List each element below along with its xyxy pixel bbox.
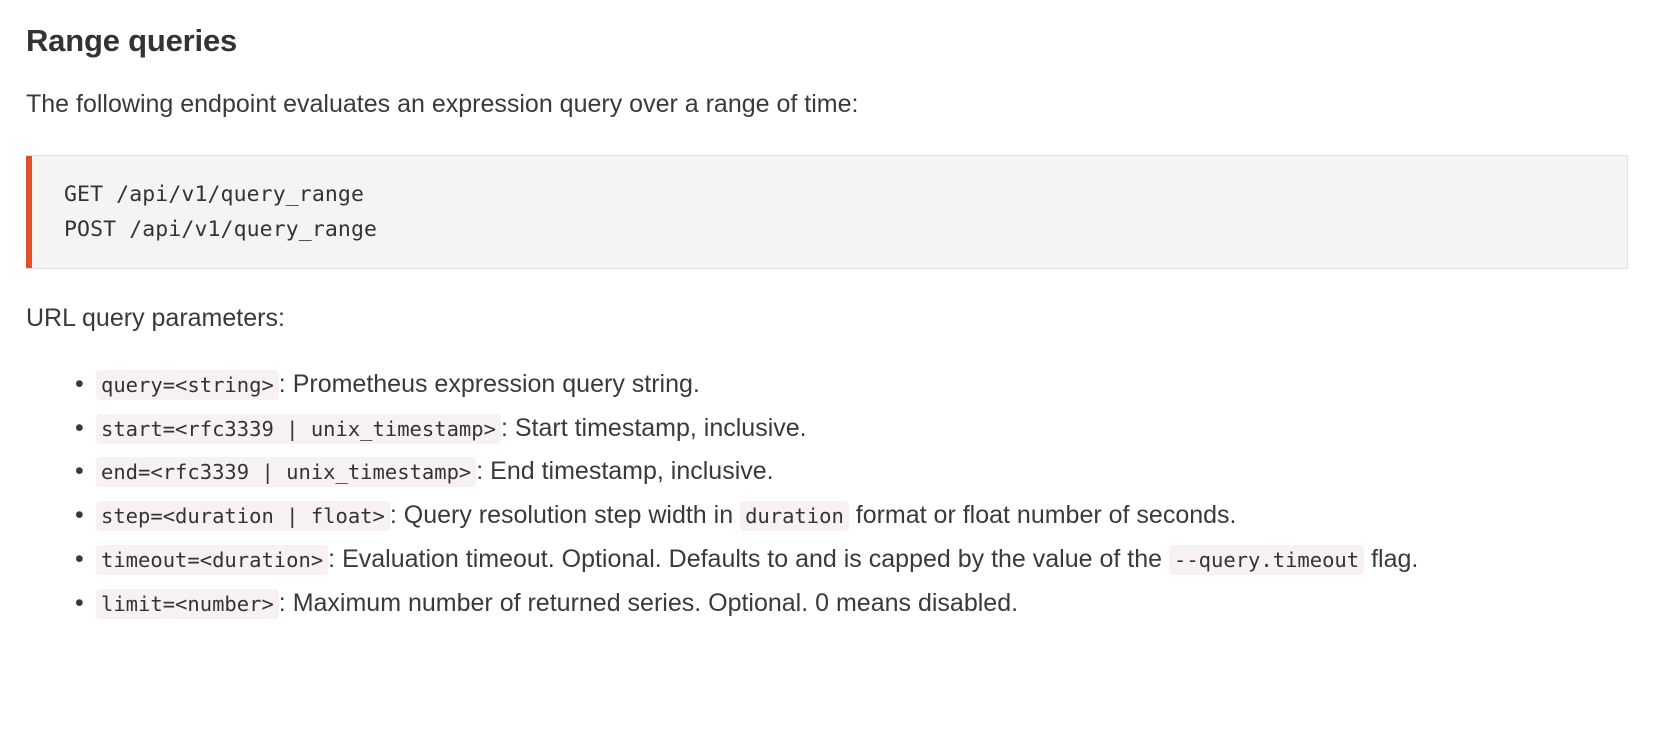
- list-item: • query=<string>: Prometheus expression …: [26, 364, 1628, 406]
- param-separator: :: [279, 370, 286, 398]
- list-item: • timeout=<duration>: Evaluation timeout…: [26, 539, 1628, 581]
- list-item: • step=<duration | float>: Query resolut…: [26, 495, 1628, 537]
- bullet-icon: •: [75, 495, 84, 537]
- param-code: query=<string>: [96, 370, 279, 400]
- bullet-icon: •: [75, 364, 84, 406]
- bullet-icon: •: [75, 539, 84, 581]
- param-description: Maximum number of returned series. Optio…: [286, 589, 1018, 617]
- param-code: end=<rfc3339 | unix_timestamp>: [96, 457, 476, 487]
- param-separator: :: [390, 501, 397, 529]
- param-description-tail: flag.: [1364, 545, 1418, 573]
- bullet-icon: •: [75, 408, 84, 450]
- param-description-tail: format or float number of seconds.: [849, 501, 1237, 529]
- list-item: • end=<rfc3339 | unix_timestamp>: End ti…: [26, 451, 1628, 493]
- param-description: End timestamp, inclusive.: [483, 457, 773, 485]
- code-line-get: GET /api/v1/query_range: [64, 178, 1607, 213]
- parameter-list: • query=<string>: Prometheus expression …: [26, 336, 1628, 625]
- intro-paragraph: The following endpoint evaluates an expr…: [26, 61, 1628, 122]
- param-code-inline-mid: --query.timeout: [1169, 545, 1364, 575]
- param-description: Start timestamp, inclusive.: [508, 414, 807, 442]
- code-line-post: POST /api/v1/query_range: [64, 213, 1607, 248]
- bullet-icon: •: [75, 583, 84, 625]
- page-title: Range queries: [26, 0, 1628, 61]
- param-description: Query resolution step width in: [397, 501, 740, 529]
- documentation-page: Range queries The following endpoint eva…: [0, 0, 1654, 742]
- param-separator: :: [501, 414, 508, 442]
- bullet-icon: •: [75, 451, 84, 493]
- param-separator: :: [279, 589, 286, 617]
- code-block-body: GET /api/v1/query_range POST /api/v1/que…: [32, 156, 1627, 268]
- param-code: timeout=<duration>: [96, 545, 328, 575]
- param-code: limit=<number>: [96, 589, 279, 619]
- list-item: • start=<rfc3339 | unix_timestamp>: Star…: [26, 408, 1628, 450]
- param-description: Prometheus expression query string.: [286, 370, 700, 398]
- param-description: Evaluation timeout. Optional. Defaults t…: [335, 545, 1169, 573]
- url-query-parameters-label: URL query parameters:: [26, 269, 1628, 336]
- list-item: • limit=<number>: Maximum number of retu…: [26, 583, 1628, 625]
- endpoint-code-block: GET /api/v1/query_range POST /api/v1/que…: [26, 155, 1628, 269]
- param-code: step=<duration | float>: [96, 501, 390, 531]
- param-code: start=<rfc3339 | unix_timestamp>: [96, 414, 501, 444]
- param-code-inline-mid: duration: [740, 501, 849, 531]
